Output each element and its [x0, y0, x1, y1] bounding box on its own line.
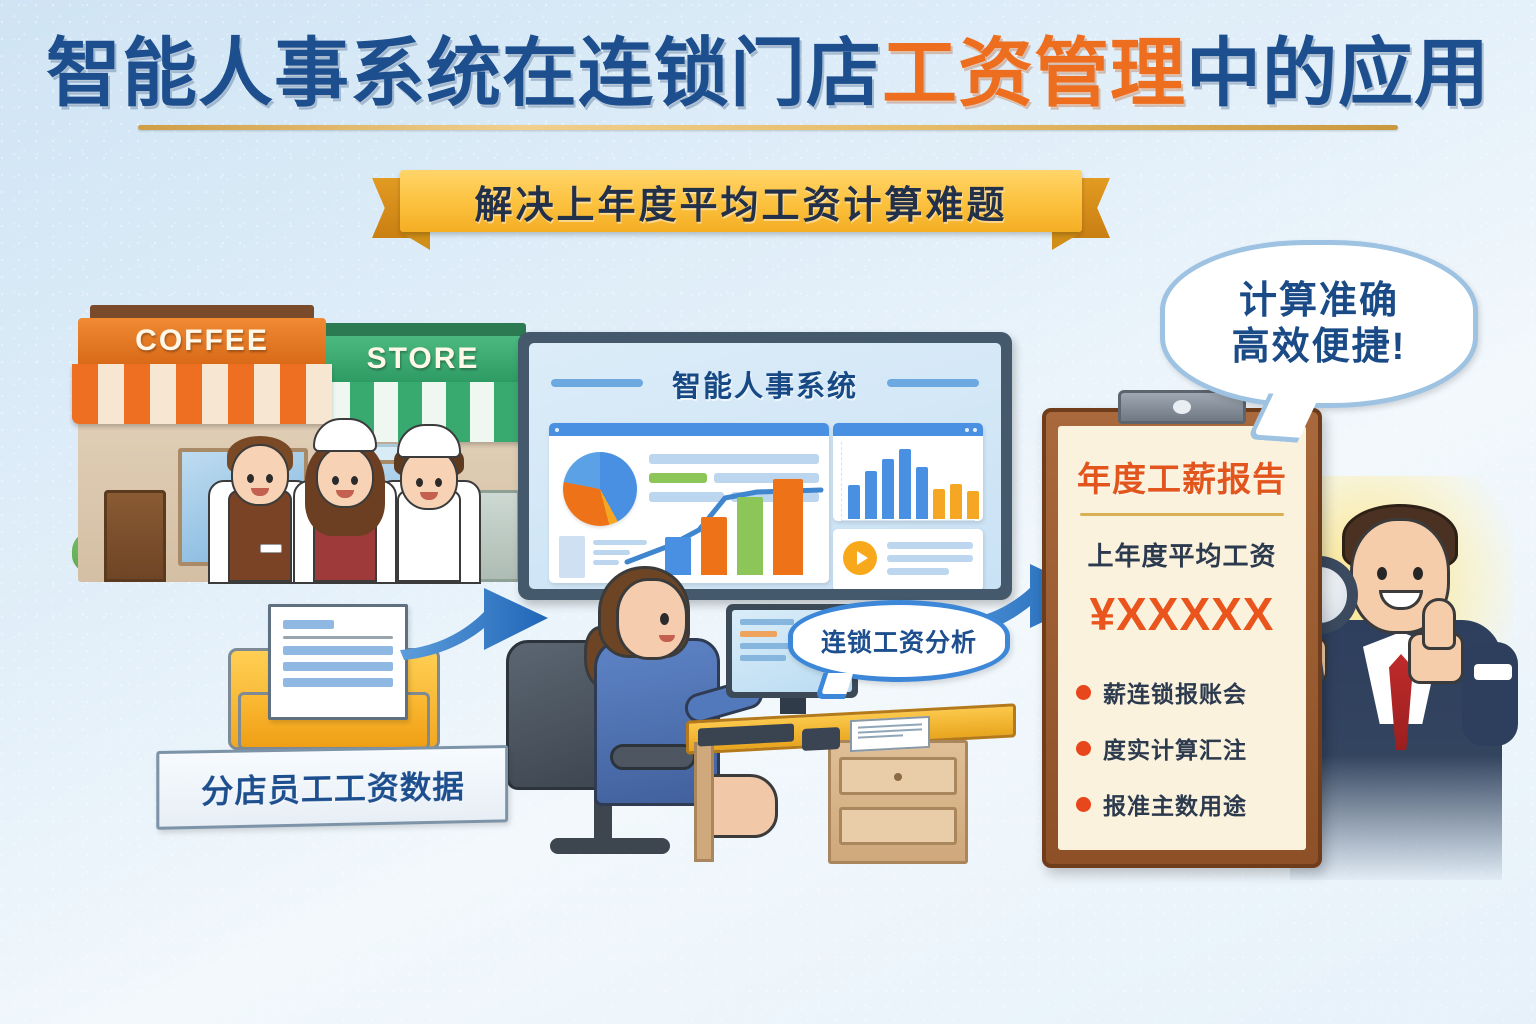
speech-bubble-result: 计算准确高效便捷! [1160, 240, 1478, 408]
doc-line-2 [283, 646, 393, 655]
businessman-cuff-right [1474, 664, 1512, 680]
staff-1-mouth [251, 488, 269, 496]
ribbon-body: 解决上年度平均工资计算难题 [400, 170, 1082, 232]
businessman-eye-left [1377, 567, 1387, 580]
bubble-top-text: 计算准确高效便捷! [1232, 278, 1407, 371]
staff-1-badge [260, 544, 282, 553]
doc-line-1 [283, 620, 334, 629]
thumbs-up-icon [1422, 598, 1456, 650]
clipboard-bullet-3-text: 报准主数用途 [1103, 787, 1247, 821]
label-plate-branch-data: 分店员工工资数据 [156, 745, 508, 830]
clipboard-title: 年度工薪报告 [1076, 452, 1288, 501]
title-underline-rule [138, 125, 1398, 130]
doc-line-4 [283, 678, 393, 687]
clipboard-divider [1080, 513, 1284, 516]
main-title-text: 智能人事系统在连锁门店工资管理中的应用 [0, 36, 1536, 111]
subtitle-text: 解决上年度平均工资计算难题 [474, 174, 1007, 229]
businessman-eye-right [1413, 567, 1423, 580]
arrow-left-shape [400, 588, 548, 660]
speech-bubble-analysis: 连锁工资分析 [788, 600, 1010, 682]
ribbon-fold-left [400, 232, 430, 250]
ribbon-fold-right [1052, 232, 1082, 250]
coffee-sign-label: COFFEE [78, 318, 326, 364]
hr-officer-mouth [659, 635, 675, 642]
staff-3-eye-right [435, 478, 442, 487]
hr-officer-head [616, 578, 688, 660]
panel-overview-titlebar [549, 423, 829, 436]
panel-bars-dot-icon [965, 428, 969, 432]
clipboard-bullet-1: 薪连锁报账会 [1076, 675, 1288, 709]
sbar-6 [933, 489, 945, 519]
desk-leg [694, 742, 714, 862]
paper-line-2 [858, 728, 922, 733]
sbar-7 [950, 484, 962, 519]
bubble-top-line-1: 计算准确 [1239, 280, 1399, 322]
desk-paper [850, 716, 930, 752]
clipboard-bullet-1-text: 薪连锁报账会 [1103, 675, 1247, 709]
clipboard-bullet-3: 报准主数用途 [1076, 787, 1288, 821]
sbar-3 [882, 459, 894, 519]
businessman-arm-right [1462, 642, 1518, 746]
clipboard-bullet-2: 度实计算汇注 [1076, 731, 1288, 765]
sbar-8 [967, 491, 979, 519]
payroll-document-icon [268, 604, 408, 720]
dashboard-panel-bars[interactable] [833, 423, 983, 521]
page-title: 智能人事系统在连锁门店工资管理中的应用 [0, 36, 1536, 130]
staff-1-head [231, 444, 289, 506]
clipboard-bullet-2-text: 度实计算汇注 [1103, 731, 1247, 765]
coffee-awning [72, 364, 332, 424]
office-chair-armrest [610, 744, 696, 770]
office-chair-base [550, 838, 670, 854]
clipboard-amount: ¥XXXXX [1076, 587, 1288, 641]
report-clipboard: 年度工薪报告 上年度平均工资 ¥XXXXX 薪连锁报账会 度实计算汇注 报准主数… [1042, 408, 1322, 868]
doc-line-rule [283, 636, 393, 639]
staff-1-eye-right [266, 474, 273, 483]
staff-2-eye-right [351, 476, 358, 485]
clipboard-sheet: 年度工薪报告 上年度平均工资 ¥XXXXX 薪连锁报账会 度实计算汇注 报准主数… [1058, 426, 1306, 850]
sbar-5 [916, 467, 928, 519]
plate-left-text: 分店员工工资数据 [201, 762, 465, 813]
subtitle-ribbon: 解决上年度平均工资计算难题 [372, 170, 1110, 236]
smartphone[interactable] [802, 727, 840, 751]
sbar-1 [848, 485, 860, 519]
clipboard-clip-hole [1173, 400, 1191, 414]
dashboard-panel-overview[interactable] [549, 423, 829, 583]
desk-scr-row-4 [740, 655, 786, 661]
storefront-scene: STORE COFFEE [78, 252, 528, 582]
desk-scr-row-2 [740, 631, 777, 637]
bullet-dot-icon [1076, 797, 1091, 812]
sbar-4 [899, 449, 911, 519]
staff-3-mouth [420, 492, 438, 500]
sbar-axis [842, 520, 975, 521]
hr-officer-eye [660, 613, 669, 625]
staff-2-head [316, 446, 374, 508]
bubble-top-line-2: 高效便捷! [1232, 326, 1407, 368]
staff-2-eye-left [332, 476, 339, 485]
panel-bars-titlebar [833, 423, 983, 436]
flow-arrow-left [398, 562, 558, 662]
bullet-dot-icon [1076, 741, 1091, 756]
desk-monitor-stand [780, 698, 806, 714]
staff-1-eye-left [247, 474, 254, 483]
bullet-dot-icon [1076, 685, 1091, 700]
bubble-middle-text: 连锁工资分析 [821, 623, 977, 659]
title-highlight: 工资管理 [882, 31, 1186, 115]
drawer-knob-icon [894, 773, 902, 781]
clipboard-bullet-list: 薪连锁报账会 度实计算汇注 报准主数用途 [1076, 675, 1288, 821]
desk-drawer-bottom[interactable] [839, 807, 957, 845]
panel-dot-icon [555, 428, 559, 432]
infographic-canvas: 智能人事系统在连锁门店工资管理中的应用 解决上年度平均工资计算难题 STORE … [0, 0, 1536, 1024]
paper-line-3 [858, 734, 903, 738]
clipboard-subtitle: 上年度平均工资 [1076, 536, 1288, 573]
screen-title: 智能人事系统 [529, 363, 1001, 405]
staff-2-mouth [336, 490, 354, 498]
coffee-door [104, 490, 166, 582]
staff-member-clerk [290, 426, 400, 584]
sbar-2 [865, 471, 877, 519]
desk-scr-row-1 [740, 619, 794, 625]
store-sign-label: STORE [308, 336, 538, 382]
title-part-1: 智能人事系统在连锁门店 [46, 31, 882, 115]
title-part-2: 中的应用 [1186, 31, 1490, 115]
desk-drawer-top[interactable] [839, 757, 957, 795]
monitor-screen: 智能人事系统 [529, 343, 1001, 589]
desk-drawer-unit [828, 740, 968, 864]
staff-3-eye-left [416, 478, 423, 487]
doc-line-3 [283, 662, 393, 671]
panel-bars-dot2-icon [973, 428, 977, 432]
